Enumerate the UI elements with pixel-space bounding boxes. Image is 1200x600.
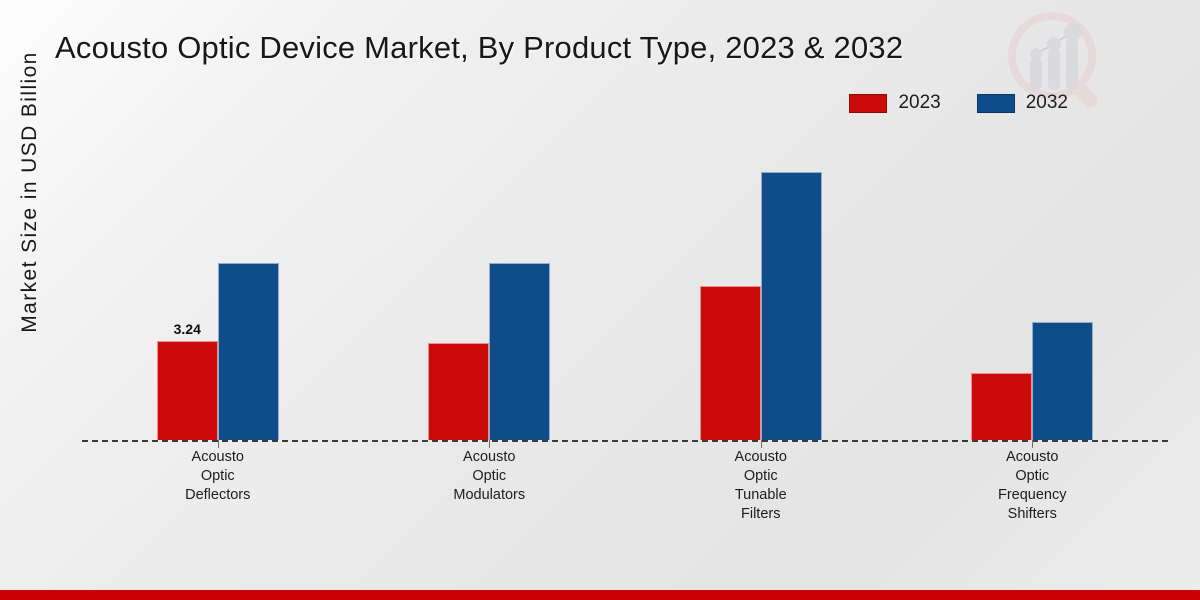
- legend-item-2032[interactable]: 2032: [977, 92, 1068, 114]
- legend-item-2023[interactable]: 2023: [849, 92, 940, 114]
- y-axis-title: Market Size in USD Billion: [18, 12, 42, 372]
- category-label-line: Acousto: [453, 448, 525, 467]
- bar-pair: [428, 120, 550, 440]
- category-label-line: Frequency: [998, 486, 1067, 505]
- category-label: AcoustoOpticDeflectors: [185, 448, 250, 505]
- bar-2032-1[interactable]: [218, 263, 279, 440]
- bar-group: AcoustoOpticTunableFilters: [625, 120, 897, 440]
- bar-group: 3.24AcoustoOpticDeflectors: [82, 120, 354, 440]
- bar-2023-3[interactable]: [700, 286, 761, 440]
- plot-area: 3.24AcoustoOpticDeflectorsAcoustoOpticMo…: [44, 120, 1168, 440]
- bar-2032-2[interactable]: [489, 263, 550, 440]
- bar-pair: [971, 120, 1093, 440]
- bar-2023-4[interactable]: [971, 373, 1032, 440]
- bar-2032-4[interactable]: [1032, 322, 1093, 440]
- category-label: AcoustoOpticFrequencyShifters: [998, 448, 1067, 524]
- category-label-line: Optic: [185, 467, 250, 486]
- bar-pair: 3.24: [157, 120, 279, 440]
- chart-canvas: Acousto Optic Device Market, By Product …: [0, 0, 1200, 600]
- legend-label-2023: 2023: [898, 92, 940, 114]
- x-axis-tick: [1032, 440, 1033, 448]
- category-label-line: Shifters: [998, 505, 1067, 524]
- category-label-line: Optic: [453, 467, 525, 486]
- chart-title: Acousto Optic Device Market, By Product …: [55, 30, 903, 66]
- bar-2032-3[interactable]: [761, 172, 822, 440]
- legend-label-2032: 2032: [1026, 92, 1068, 114]
- category-label-line: Tunable: [735, 486, 787, 505]
- bottom-accent-strip: [0, 590, 1200, 600]
- bar-group: AcoustoOpticFrequencyShifters: [897, 120, 1169, 440]
- bar-group: AcoustoOpticModulators: [354, 120, 626, 440]
- x-axis-tick: [761, 440, 762, 448]
- category-label: AcoustoOpticTunableFilters: [735, 448, 787, 524]
- x-axis-tick: [489, 440, 490, 448]
- chart-legend: 2023 2032: [849, 92, 1068, 114]
- category-label: AcoustoOpticModulators: [453, 448, 525, 505]
- legend-swatch-2032: [977, 94, 1015, 113]
- category-label-line: Optic: [735, 467, 787, 486]
- bar-pair: [700, 120, 822, 440]
- bar-2023-1[interactable]: [157, 341, 218, 440]
- category-label-line: Filters: [735, 505, 787, 524]
- category-label-line: Acousto: [185, 448, 250, 467]
- category-label-line: Modulators: [453, 486, 525, 505]
- category-label-line: Acousto: [735, 448, 787, 467]
- category-label-line: Optic: [998, 467, 1067, 486]
- category-label-line: Deflectors: [185, 486, 250, 505]
- bar-value-label: 3.24: [174, 321, 201, 337]
- bar-groups: 3.24AcoustoOpticDeflectorsAcoustoOpticMo…: [82, 120, 1168, 440]
- bar-2023-2[interactable]: [428, 343, 489, 440]
- x-axis-tick: [218, 440, 219, 448]
- category-label-line: Acousto: [998, 448, 1067, 467]
- x-axis-baseline: [82, 440, 1168, 442]
- legend-swatch-2023: [849, 94, 887, 113]
